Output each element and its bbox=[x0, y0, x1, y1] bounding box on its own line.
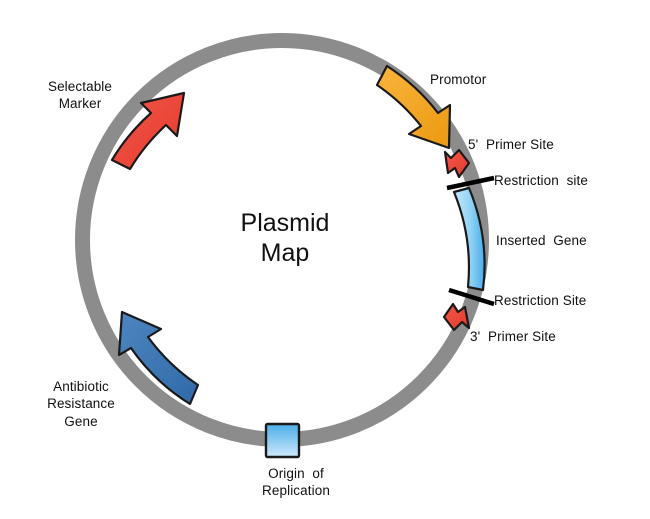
page-title: PlasmidMap bbox=[192, 209, 378, 268]
label-restriction-site-top: Restriction site bbox=[494, 172, 644, 189]
label-origin-of-replication: Origin ofReplication bbox=[236, 465, 356, 500]
feature-3-prime-primer-site[interactable] bbox=[444, 304, 469, 330]
label-restriction-site-bottom: Restriction Site bbox=[494, 292, 646, 309]
label-5-prime-primer-site: 5' Primer Site bbox=[468, 136, 628, 153]
plasmid-map-figure: PlasmidMap SelectableMarker Promotor 5' … bbox=[0, 0, 650, 519]
page-title-line2: Map bbox=[261, 239, 310, 267]
label-promotor: Promotor bbox=[430, 71, 560, 88]
label-antibiotic-resistance-gene: AntibioticResistanceGene bbox=[26, 378, 136, 430]
feature-origin-of-replication[interactable] bbox=[266, 424, 299, 457]
label-selectable-marker: SelectableMarker bbox=[28, 78, 132, 113]
label-3-prime-primer-site: 3' Primer Site bbox=[470, 328, 630, 345]
page-title-line1: Plasmid bbox=[241, 209, 330, 237]
label-inserted-gene: Inserted Gene bbox=[496, 232, 646, 249]
